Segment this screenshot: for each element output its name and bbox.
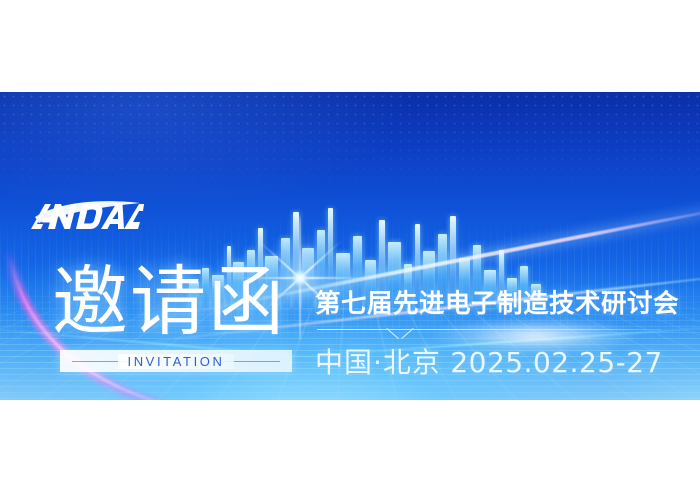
event-date: 2025.02.25-27 bbox=[450, 346, 663, 379]
event-location: 中国·北京 bbox=[315, 346, 441, 379]
dot-grid-texture bbox=[0, 92, 700, 212]
poster-page: 邀请函 INVITATION 第七届先进电子制造技术研讨会 中国·北京 2025… bbox=[0, 0, 700, 500]
event-divider bbox=[317, 328, 661, 340]
divider-notch bbox=[387, 328, 413, 339]
divider-line bbox=[317, 329, 661, 330]
andaas-swoosh-logo bbox=[26, 200, 144, 234]
event-info-block: 第七届先进电子制造技术研讨会 中国·北京 2025.02.25-27 bbox=[315, 288, 675, 380]
event-date-location: 中国·北京 2025.02.25-27 bbox=[315, 346, 675, 380]
headline-chinese: 邀请函 bbox=[52, 260, 302, 344]
invitation-banner: 邀请函 INVITATION 第七届先进电子制造技术研讨会 中国·北京 2025… bbox=[0, 92, 700, 400]
event-title: 第七届先进电子制造技术研讨会 bbox=[315, 288, 675, 320]
headline-english: INVITATION bbox=[118, 354, 233, 369]
headline-block: 邀请函 INVITATION bbox=[52, 260, 302, 372]
invitation-band: INVITATION bbox=[60, 350, 292, 372]
